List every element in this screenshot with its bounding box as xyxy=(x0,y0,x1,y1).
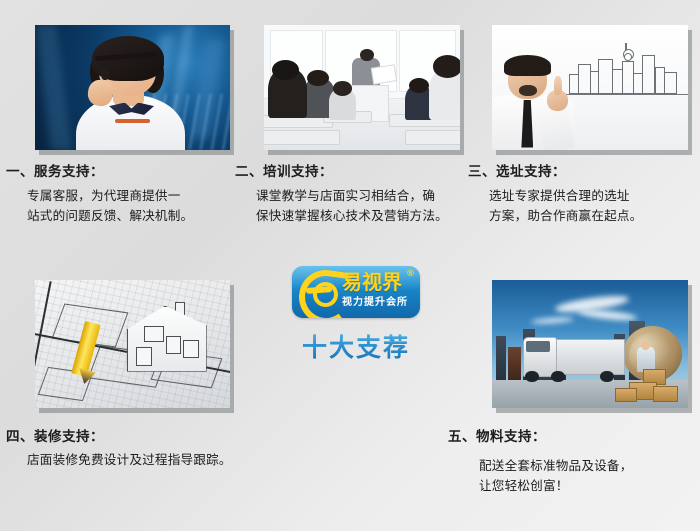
logo-brand-name: 易视界 xyxy=(342,271,402,293)
blueprint-scene xyxy=(35,280,230,408)
house-window xyxy=(166,336,182,353)
headset-mic-icon xyxy=(101,66,109,80)
support-body-line: 保快速掌握核心技术及营销方法。 xyxy=(256,206,496,226)
man-hair xyxy=(504,55,551,76)
sketch-building xyxy=(598,59,613,94)
cardboard-box xyxy=(653,386,679,402)
city-building xyxy=(508,347,522,380)
skyline-sketch-scene xyxy=(492,25,688,150)
cardboard-box xyxy=(615,388,637,402)
registered-trademark-icon: ® xyxy=(406,269,415,279)
logo-badge: 易视界 视力提升会所 ® xyxy=(292,266,420,318)
support-body-materials: 配送全套标准物品及设备， 让您轻松创富！ xyxy=(458,456,700,497)
student-head xyxy=(307,70,329,86)
support-body-line: 专属客服，为代理商提供一 xyxy=(27,186,263,206)
bg-light-streak xyxy=(35,25,72,150)
customer-service-photo xyxy=(35,25,230,150)
truck-wheel xyxy=(551,371,565,383)
cloud xyxy=(578,308,637,322)
man-beard xyxy=(519,85,537,96)
support-heading-service: 一、服务支持： xyxy=(6,163,231,181)
support-body-site: 选址专家提供合理的选址 方案，助合作商赢在起点。 xyxy=(468,186,700,227)
blueprint-house-photo xyxy=(35,280,230,408)
sketch-building xyxy=(664,72,677,94)
support-body-line: 方案，助合作商赢在起点。 xyxy=(489,206,700,226)
logo-brand-subtitle: 视力提升会所 xyxy=(342,297,408,309)
support-body-service: 专属客服，为代理商提供一 站式的问题反馈、解决机制。 xyxy=(6,186,263,227)
support-body-line: 配送全套标准物品及设备， xyxy=(479,456,700,476)
truck-trailer xyxy=(545,339,625,374)
logo-slogan: 十大支荐 xyxy=(292,328,420,364)
support-heading-decoration: 四、装修支持： xyxy=(6,428,306,446)
pointing-finger xyxy=(554,76,562,95)
support-heading-training: 二、培训支持： xyxy=(235,163,465,181)
brand-logo: 易视界 视力提升会所 ® 十大支荐 xyxy=(292,266,420,364)
support-body-line: 课堂教学与店面实习相结合，确 xyxy=(256,186,496,206)
classroom-scene xyxy=(264,25,460,150)
support-heading-materials: 五、物料支持： xyxy=(448,428,698,446)
support-poster: 一、服务支持： 专属客服，为代理商提供一 站式的问题反馈、解决机制。 二、培训支… xyxy=(0,0,700,531)
support-body-decoration: 店面装修免费设计及过程指导跟踪。 xyxy=(6,450,357,470)
support-body-line: 选址专家提供合理的选址 xyxy=(489,186,700,206)
city-skyline-sketch xyxy=(566,41,684,94)
student-head xyxy=(409,78,429,93)
sketch-building xyxy=(642,55,656,94)
instructor-head xyxy=(360,49,374,62)
house-window xyxy=(144,326,164,342)
sketch-building xyxy=(622,61,635,93)
classroom-desk xyxy=(264,130,340,145)
house-window xyxy=(136,347,152,367)
sketch-tower-sphere xyxy=(624,53,632,61)
house-window xyxy=(183,340,199,357)
support-heading-site: 三、选址支持： xyxy=(468,163,696,181)
support-body-training: 课堂教学与店面实习相结合，确 保快速掌握核心技术及营销方法。 xyxy=(235,186,496,227)
logo-eye-pupil xyxy=(313,282,338,307)
student-head xyxy=(272,60,299,80)
businessman-skyline-photo xyxy=(492,25,688,150)
student-head xyxy=(433,55,460,78)
classroom-training-photo xyxy=(264,25,460,150)
sketch-building xyxy=(578,64,591,93)
city-building xyxy=(496,336,506,380)
support-body-line: 店面装修免费设计及过程指导跟踪。 xyxy=(27,450,357,470)
truck-wheel xyxy=(600,371,614,383)
eye-e-logo-icon xyxy=(299,270,343,314)
classroom-desk xyxy=(405,130,460,145)
logistics-scene xyxy=(492,280,688,408)
truck-windshield xyxy=(526,341,550,351)
support-body-line: 让您轻松创富！ xyxy=(479,476,700,496)
customer-service-scene xyxy=(35,25,230,150)
agent-collar-accent xyxy=(115,119,150,123)
support-body-line: 站式的问题反馈、解决机制。 xyxy=(27,206,263,226)
cloud xyxy=(531,317,574,325)
sketch-baseline xyxy=(551,94,688,95)
logistics-truck-photo xyxy=(492,280,688,408)
